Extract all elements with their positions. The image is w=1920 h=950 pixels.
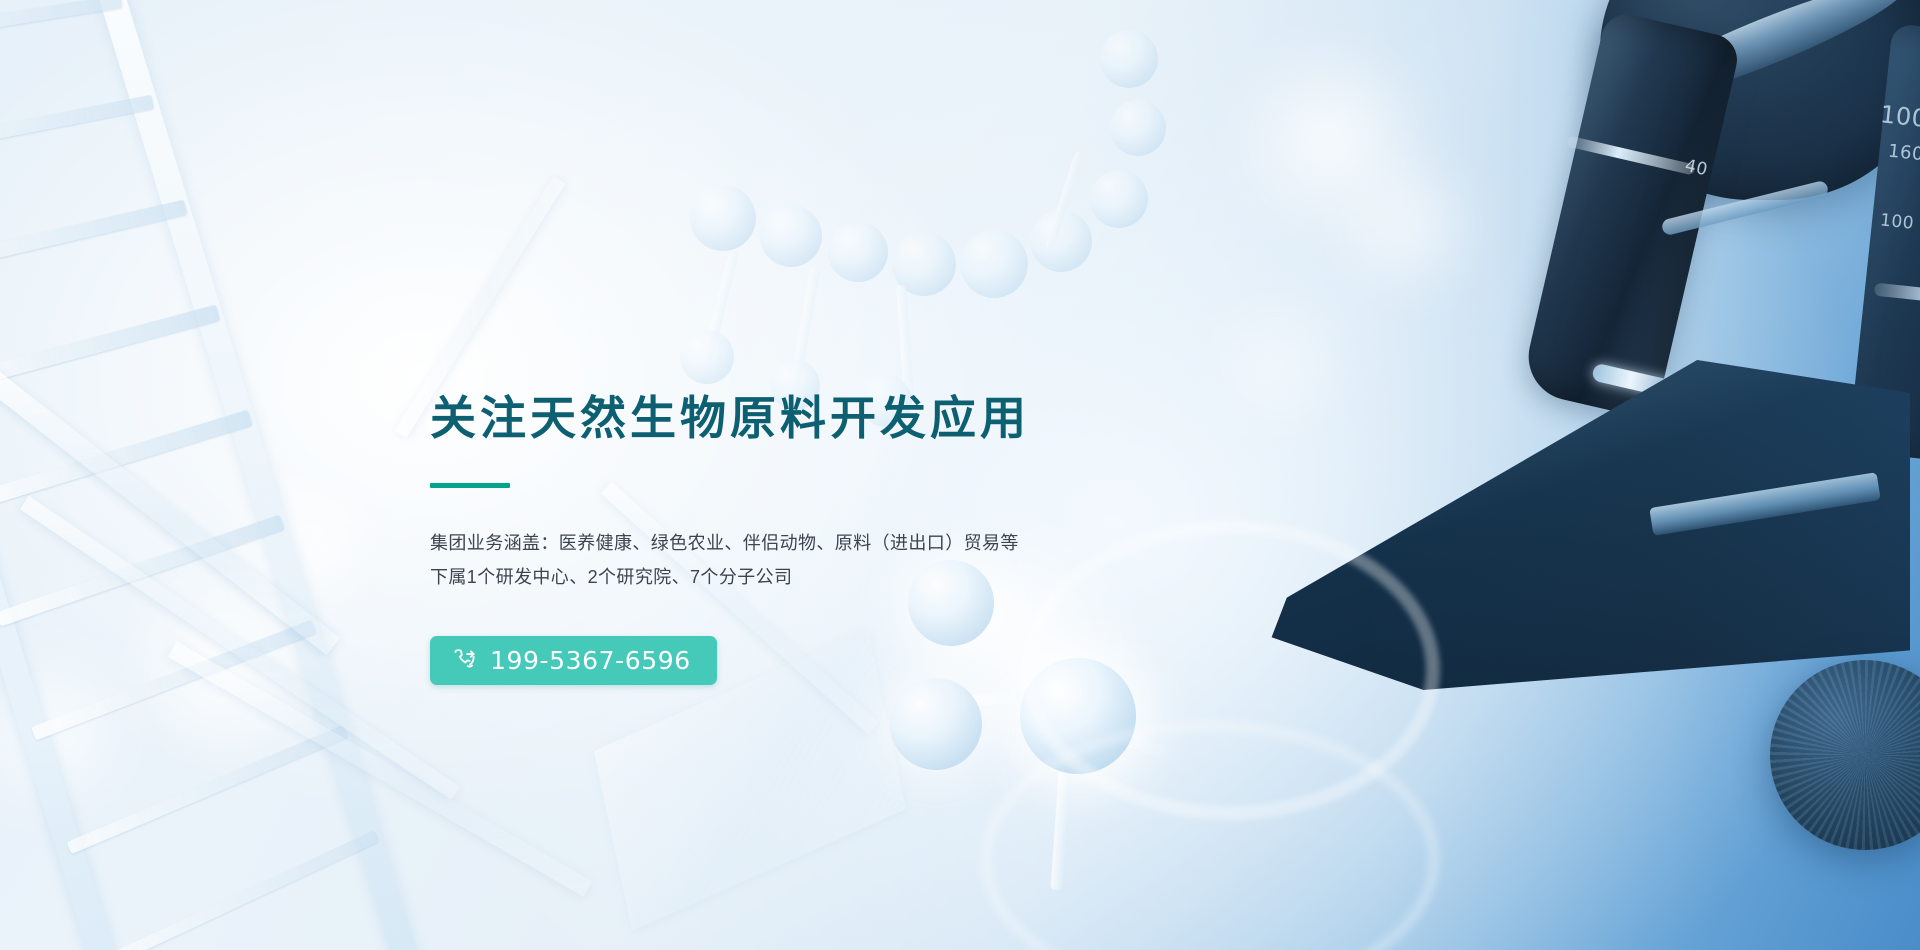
helix-rung — [0, 305, 220, 398]
microscope-turret — [1600, 0, 1920, 200]
molecule-bond — [790, 268, 821, 388]
microscope-label-mag-100: 100 — [1879, 210, 1915, 233]
helix-rung — [0, 410, 252, 513]
microscope-objective-left — [1520, 9, 1742, 420]
microscope-objective-band — [1566, 136, 1695, 176]
microscope-objective-band — [1874, 283, 1920, 311]
helix-rung — [66, 725, 347, 854]
call-phone-button[interactable]: 199-5367-6596 — [430, 636, 717, 685]
microscope-focus-knob-ridges — [1770, 660, 1920, 850]
bokeh-glow — [1230, 40, 1430, 240]
glass-sheet — [0, 367, 340, 655]
bokeh-glow — [1210, 300, 1340, 430]
helix-rung — [0, 515, 284, 627]
microscope-stage-rod — [1661, 180, 1830, 237]
microscope-stage — [1150, 360, 1910, 690]
phone-number-label: 199-5367-6596 — [490, 646, 691, 675]
microscope-turret-ring — [1620, 0, 1915, 119]
molecule-bond — [1045, 151, 1084, 249]
bokeh-glow — [0, 640, 140, 820]
hero-content: 关注天然生物原料开发应用 集团业务涵盖：医养健康、绿色农业、伴侣动物、原料（进出… — [430, 392, 1190, 685]
microscope-label-mag-40: 40 — [1683, 156, 1710, 181]
helix-rung — [31, 620, 316, 741]
molecule-bond — [703, 250, 739, 359]
helix-rail — [0, 1, 145, 950]
molecule-sphere — [890, 678, 982, 770]
molecule-bond — [1061, 710, 1178, 763]
helix-rung — [102, 830, 379, 950]
bokeh-glow — [230, 470, 380, 620]
microscope-focus-knob — [1770, 660, 1920, 850]
molecule-sphere — [1090, 170, 1148, 228]
microscope-label-tube: 160/0.17 — [1887, 141, 1920, 171]
molecule-sphere — [680, 330, 734, 384]
helix-rung — [0, 200, 187, 282]
molecule-sphere — [690, 185, 756, 251]
molecule-sphere — [1100, 30, 1158, 88]
molecule-sphere — [760, 205, 822, 267]
microscope-objective-tip — [1591, 363, 1679, 400]
hero-banner: 100/1.25 160/0.17 40 100 关注天然生物原料开发应用 集团… — [0, 0, 1920, 950]
microscope-objective-right — [1848, 23, 1920, 466]
microscope-stage-clip — [1649, 472, 1881, 536]
title-divider — [430, 483, 510, 488]
subtitle-line-2: 下属1个研发中心、2个研究院、7个分子公司 — [430, 560, 1190, 594]
molecule-bond — [896, 285, 914, 395]
bokeh-glow — [1330, 150, 1480, 300]
helix-rung — [0, 95, 154, 166]
molecule-sphere — [1030, 210, 1092, 272]
helix-rung — [0, 0, 122, 54]
hero-subtitle: 集团业务涵盖：医养健康、绿色农业、伴侣动物、原料（进出口）贸易等 下属1个研发中… — [430, 526, 1190, 594]
molecule-sphere — [960, 230, 1028, 298]
molecule-bond — [1050, 760, 1071, 891]
subtitle-line-1: 集团业务涵盖：医养健康、绿色农业、伴侣动物、原料（进出口）贸易等 — [430, 526, 1190, 560]
microscope: 100/1.25 160/0.17 40 100 — [1180, 0, 1920, 950]
glass-sheet — [20, 496, 460, 800]
page-title: 关注天然生物原料开发应用 — [430, 392, 1190, 445]
helix-rail — [76, 0, 422, 950]
molecule-sphere — [1110, 100, 1166, 156]
phone-forward-icon — [452, 647, 478, 673]
bokeh-glow — [120, 560, 330, 770]
microscope-label-aperture: 100/1.25 — [1879, 100, 1920, 139]
molecule-sphere — [892, 232, 956, 296]
microscope-stage-edge — [1150, 360, 1910, 690]
molecule-sphere — [828, 222, 888, 282]
glassware-reflection — [980, 720, 1440, 950]
right-haze — [1360, 0, 1920, 950]
molecule-bond — [960, 684, 1071, 707]
